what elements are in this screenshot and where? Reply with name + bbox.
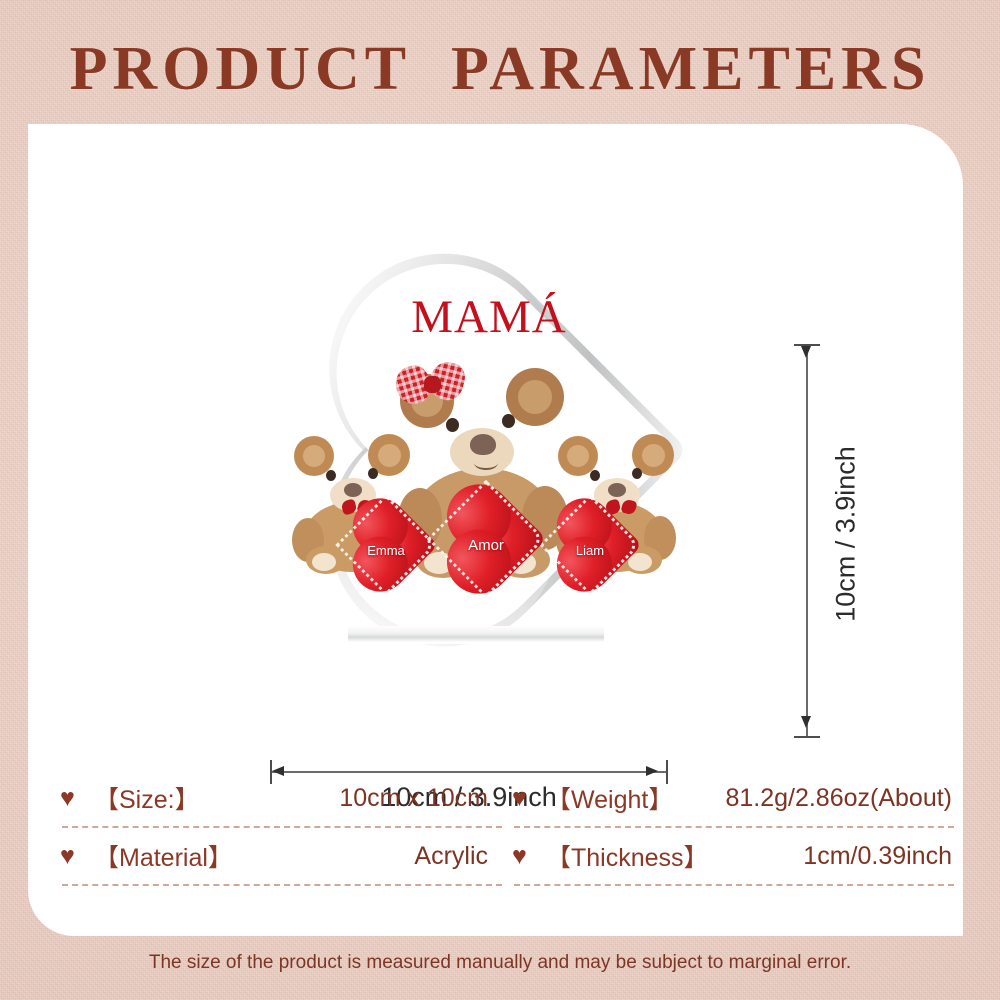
spec-table: ♥ 【Size:】 10cm x 10cm ♥ 【Material】 Acryl… <box>56 770 961 886</box>
spec-divider <box>62 884 502 886</box>
content-card: MAMÁ <box>28 124 963 936</box>
name-heart-right: Liam <box>544 502 636 588</box>
spec-value-material: Acrylic <box>233 842 508 871</box>
acrylic-heart-plaque: MAMÁ <box>256 204 696 644</box>
spec-value-size: 10cm x 10cm <box>200 784 508 813</box>
spec-key-material: 【Material】 <box>94 838 233 874</box>
spec-divider <box>514 884 954 886</box>
heart-bullet-icon: ♥ <box>508 786 546 811</box>
heart-bullet-icon: ♥ <box>508 844 546 869</box>
spec-row-material: ♥ 【Material】 Acrylic <box>56 828 508 884</box>
heart-bullet-icon: ♥ <box>56 786 94 811</box>
spec-value-weight: 81.2g/2.86oz(About) <box>673 784 960 813</box>
gingham-bow-icon <box>396 362 468 408</box>
teddy-bear-artwork: Emma Liam Amor <box>256 204 696 644</box>
spec-value-thickness: 1cm/0.39inch <box>709 842 960 871</box>
height-dimension: 10cm / 3.9inch <box>788 338 908 744</box>
spec-row-thickness: ♥ 【Thickness】 1cm/0.39inch <box>508 828 960 884</box>
height-dimension-label: 10cm / 3.9inch <box>831 446 862 622</box>
spec-column-left: ♥ 【Size:】 10cm x 10cm ♥ 【Material】 Acryl… <box>56 770 508 886</box>
spec-row-weight: ♥ 【Weight】 81.2g/2.86oz(About) <box>508 770 960 826</box>
spec-key-weight: 【Weight】 <box>546 780 673 816</box>
page-title: PRODUCT PARAMETERS <box>0 34 1000 105</box>
disclaimer-note: The size of the product is measured manu… <box>0 952 1000 974</box>
spec-key-size: 【Size:】 <box>94 780 200 816</box>
spec-row-size: ♥ 【Size:】 10cm x 10cm <box>56 770 508 826</box>
spec-column-right: ♥ 【Weight】 81.2g/2.86oz(About) ♥ 【Thickn… <box>508 770 960 886</box>
spec-key-thickness: 【Thickness】 <box>546 838 709 874</box>
name-heart-center: Amor <box>434 490 538 588</box>
heart-bullet-icon: ♥ <box>56 844 94 869</box>
product-image: MAMÁ <box>238 204 718 764</box>
infographic-page: PRODUCT PARAMETERS MAMÁ <box>0 0 1000 1000</box>
name-heart-left: Emma <box>340 502 432 588</box>
